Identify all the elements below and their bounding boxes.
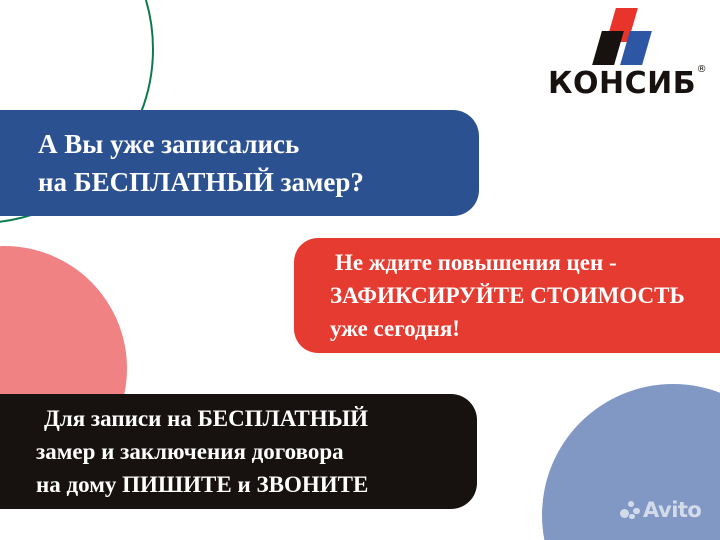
offer-banner-red-line-1: Не ждите повышения цен -: [330, 246, 720, 279]
cta-banner-black: Для записи на БЕСПЛАТНЫЙ замер и заключе…: [0, 394, 477, 509]
headline-banner-blue: А Вы уже записались на БЕСПЛАТНЫЙ замер?: [0, 110, 479, 216]
cta-banner-black-line-3: на дому ПИШИТЕ и ЗВОНИТЕ: [36, 468, 477, 501]
blue-circle-decor: [542, 384, 720, 540]
headline-banner-blue-line-1: А Вы уже записались: [38, 125, 479, 163]
konsib-logo: КОНСИБ ®: [542, 8, 702, 100]
logo-rhomb-black-icon: [592, 31, 624, 65]
headline-banner-blue-line-2: на БЕСПЛАТНЫЙ замер?: [38, 163, 479, 201]
registered-trademark-icon: ®: [697, 65, 708, 75]
promo-banner-canvas: Avito КОНСИБ ® А Вы уже записались на БЕ…: [0, 0, 720, 540]
offer-banner-red: Не ждите повышения цен - ЗАФИКСИРУЙТЕ СТ…: [294, 238, 720, 353]
konsib-wordmark: КОНСИБ ®: [548, 68, 696, 100]
offer-banner-red-line-3: уже сегодня!: [330, 312, 720, 345]
konsib-wordmark-text: КОНСИБ: [548, 66, 696, 101]
cta-banner-black-line-1: Для записи на БЕСПЛАТНЫЙ: [36, 402, 477, 435]
konsib-logo-mark-icon: [590, 8, 654, 66]
cta-banner-black-line-2: замер и заключения договора: [36, 435, 477, 468]
offer-banner-red-line-2: ЗАФИКСИРУЙТЕ СТОИМОСТЬ: [330, 279, 720, 312]
